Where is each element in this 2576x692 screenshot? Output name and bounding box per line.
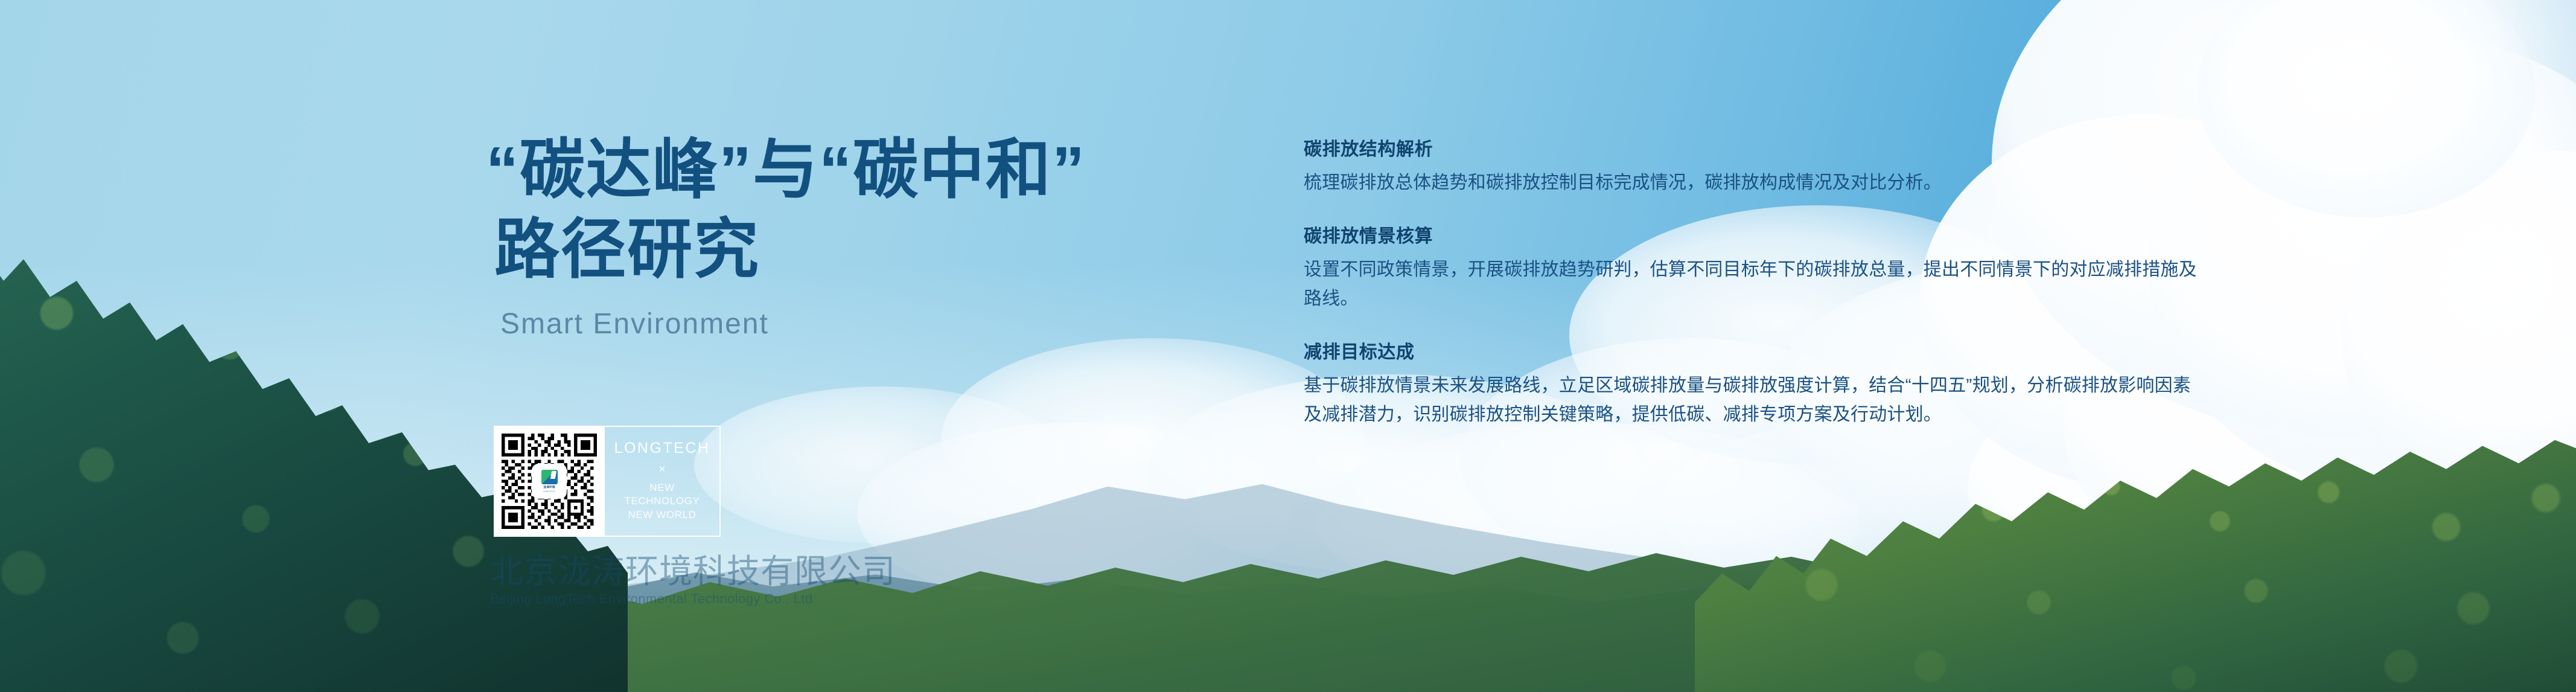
logo-company-latin: LONGTECH — [543, 490, 555, 493]
longtech-logo-icon: 泷涛环境 LONGTECH — [533, 465, 566, 498]
page-title-line-1: “碳达峰”与“碳中和” — [486, 130, 1210, 210]
feature-item: 减排目标达成 基于碳排放情景未来发展路线，立足区域碳排放量与碳排放强度计算，结合… — [1304, 341, 2197, 430]
feature-body: 基于碳排放情景未来发展路线，立足区域碳排放量与碳排放强度计算，结合“十四五”规划… — [1304, 371, 2197, 430]
cross-icon: × — [658, 464, 665, 475]
brand-row: 泷涛环境 LONGTECH LONGTECH × NEWTECHNOLOGYNE… — [494, 426, 721, 537]
tagline-box: LONGTECH × NEWTECHNOLOGYNEW WORLD — [605, 426, 721, 537]
qr-code-matrix: 泷涛环境 LONGTECH — [502, 434, 597, 529]
tagline-subtext: NEWTECHNOLOGYNEW WORLD — [624, 481, 700, 522]
feature-body: 设置不同政策情景，开展碳排放趋势研判，估算不同目标年下的碳排放总量，提出不同情景… — [1304, 255, 2197, 314]
tagline-brand: LONGTECH — [614, 441, 710, 456]
feature-item: 碳排放结构解析 梳理碳排放总体趋势和碳排放控制目标完成情况，碳排放构成情况及对比… — [1304, 138, 2197, 198]
title-block: “碳达峰”与“碳中和” 路径研究 Smart Environment — [486, 130, 1210, 341]
feature-title: 减排目标达成 — [1304, 341, 2197, 364]
carbon-peak-banner: “碳达峰”与“碳中和” 路径研究 Smart Environment — [0, 0, 2576, 692]
feature-item: 碳排放情景核算 设置不同政策情景，开展碳排放趋势研判，估算不同目标年下的碳排放总… — [1304, 225, 2197, 314]
feature-body: 梳理碳排放总体趋势和碳排放控制目标完成情况，碳排放构成情况及对比分析。 — [1304, 168, 2197, 198]
logo-mark — [541, 470, 558, 484]
qr-code[interactable]: 泷涛环境 LONGTECH — [494, 426, 605, 537]
tagline-line: TECHNOLOGY — [624, 495, 700, 508]
tagline-line: NEW — [624, 481, 700, 495]
page-subtitle: Smart Environment — [500, 307, 1210, 341]
logo-company-name: 泷涛环境 — [543, 485, 555, 489]
feature-title: 碳排放结构解析 — [1304, 138, 2197, 161]
feature-list: 碳排放结构解析 梳理碳排放总体趋势和碳排放控制目标完成情况，碳排放构成情况及对比… — [1304, 138, 2197, 430]
feature-title: 碳排放情景核算 — [1304, 225, 2197, 248]
tagline-line: NEW WORLD — [624, 508, 700, 522]
page-title-line-2: 路径研究 — [494, 210, 1210, 289]
